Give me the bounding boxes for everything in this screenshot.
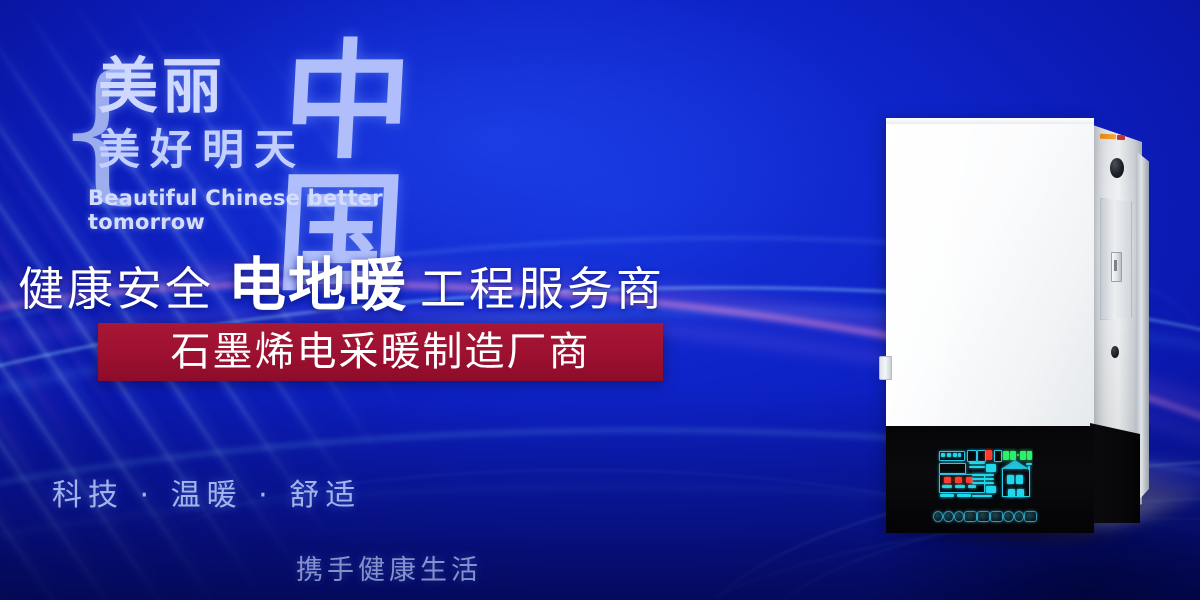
power-button-icon[interactable] [933,511,943,522]
tagline-primary: 科技 · 温暖 · 舒适 [52,470,361,514]
lcd-segment [955,485,965,488]
lcd-colon [1017,454,1019,456]
lcd-mode-block [939,463,966,474]
product-top-red-cap [1117,135,1125,140]
lcd-room-digit [1007,475,1014,484]
side-vent-icon [1111,346,1119,358]
lcd-value-block [986,464,996,472]
red-banner-text: 石墨烯电采暖制造厂商 [171,330,591,374]
confirm-button-icon[interactable] [1014,511,1024,522]
lcd-segment [947,453,951,457]
headline: 健康安全 电地暖 工程服务商 [18,256,665,315]
promo-banner: { 美丽 美好明天 中国 Beautiful Chinese better to… [0,0,1200,600]
reset-button-icon[interactable] [1024,511,1037,522]
logo-line-1: 美丽 [98,56,226,118]
product-top-orange-cap [1100,134,1116,140]
touch-button-row[interactable] [933,510,1037,522]
lcd-bar [972,495,992,497]
lcd-room-digit [1016,475,1023,484]
lcd-alert-led [955,477,962,483]
lcd-digit [1027,451,1032,460]
clock-button-icon[interactable] [977,511,990,522]
timer-button-icon[interactable] [990,511,1003,522]
exhaust-port-icon [1110,158,1124,178]
headline-part-3: 工程服务商 [420,263,665,315]
lcd-segment [941,453,945,457]
set-button-icon[interactable] [964,511,977,522]
lcd-icon-block [977,450,986,462]
lcd-alert-led [944,477,951,483]
lcd-digit [1020,451,1026,460]
lcd-bar [972,478,994,480]
lcd-segment [940,494,954,497]
logo-line-2: 美好明天 [98,128,306,172]
lcd-digit [1003,451,1009,460]
mode-button-icon[interactable] [943,511,953,522]
lcd-alert-indicator [986,450,992,460]
lcd-bar [972,482,994,484]
product-left-fitting [879,356,892,380]
power-switch-slot [1114,260,1117,271]
product-electric-boiler [878,118,1178,533]
lcd-display [936,448,1033,504]
lcd-room-digit [1008,489,1015,497]
lcd-room-digit [1017,489,1024,497]
lcd-digit [1010,451,1016,460]
lcd-segment [958,453,961,457]
lcd-bar [969,466,985,468]
lcd-segment [953,453,957,457]
lcd-segment [957,494,971,497]
tagline-secondary: 携手健康生活 [296,548,482,587]
up-button-icon[interactable] [954,511,964,522]
lcd-icon-block [967,450,977,462]
lcd-bar [969,462,985,464]
lcd-segment [942,485,952,488]
down-button-icon[interactable] [1003,511,1013,522]
headline-part-2-emphasis: 电地暖 [228,256,408,314]
lcd-segment [968,485,976,488]
brand-logo: { 美丽 美好明天 中国 Beautiful Chinese better to… [52,48,482,228]
logo-english-subtitle: Beautiful Chinese better tomorrow [88,186,482,234]
headline-part-1: 健康安全 [18,263,214,315]
product-top-bevel [886,118,1094,124]
control-panel-side-face [1090,423,1140,523]
red-subtitle-banner: 石墨烯电采暖制造厂商 [98,323,663,381]
lcd-value-block [986,486,996,493]
lcd-bar [972,474,994,476]
